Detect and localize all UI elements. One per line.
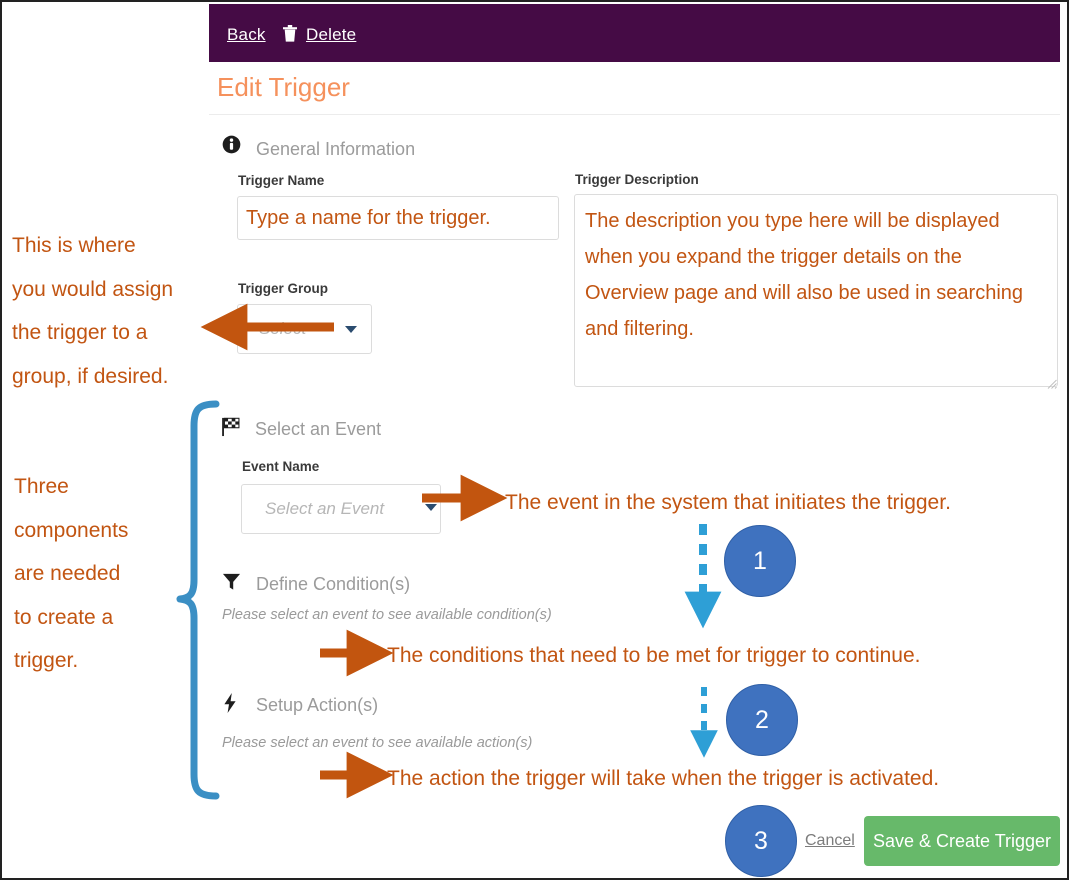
page-title: Edit Trigger	[217, 72, 350, 103]
top-navigation-bar: Back Delete	[209, 4, 1060, 62]
trash-icon[interactable]	[283, 25, 297, 42]
define-conditions-hint: Please select an event to see available …	[222, 607, 552, 623]
annotation-condition-note: The conditions that need to be met for t…	[387, 634, 921, 678]
checkered-flag-icon	[221, 416, 242, 442]
lightning-bolt-icon	[223, 693, 237, 718]
info-circle-icon	[222, 135, 241, 159]
annotation-trigger-group-note: This is where you would assign the trigg…	[12, 224, 173, 398]
trigger-description-label: Trigger Description	[575, 172, 699, 187]
cancel-button[interactable]: Cancel	[805, 832, 855, 850]
trigger-group-placeholder: Select	[259, 319, 306, 339]
trigger-name-input[interactable]	[237, 196, 559, 240]
general-information-heading: General Information	[256, 139, 415, 160]
screenshot-root: Back Delete Edit Trigger General Informa…	[0, 0, 1069, 880]
trigger-name-label: Trigger Name	[238, 173, 324, 188]
chevron-down-icon[interactable]	[425, 504, 437, 511]
chevron-down-icon[interactable]	[345, 326, 357, 333]
save-and-create-trigger-button[interactable]: Save & Create Trigger	[864, 816, 1060, 866]
step-badge-3: 3	[725, 805, 797, 877]
annotation-three-components-note: Three components are needed to create a …	[14, 465, 128, 683]
setup-actions-heading: Setup Action(s)	[256, 695, 378, 716]
select-an-event-heading: Select an Event	[255, 419, 381, 440]
annotation-event-note: The event in the system that initiates t…	[505, 481, 951, 525]
funnel-filter-icon	[222, 572, 241, 596]
define-conditions-heading: Define Condition(s)	[256, 574, 410, 595]
delete-link[interactable]: Delete	[306, 25, 356, 45]
step-badge-1: 1	[724, 525, 796, 597]
event-name-placeholder: Select an Event	[265, 499, 384, 519]
trigger-group-label: Trigger Group	[238, 281, 328, 296]
back-link[interactable]: Back	[227, 25, 266, 45]
setup-actions-hint: Please select an event to see available …	[222, 735, 532, 751]
event-name-label: Event Name	[242, 459, 319, 474]
app-panel: Back Delete Edit Trigger General Informa…	[209, 4, 1060, 880]
trigger-description-textarea[interactable]: The description you type here will be di…	[574, 194, 1058, 387]
annotation-action-note: The action the trigger will take when th…	[387, 757, 939, 801]
step-badge-2: 2	[726, 684, 798, 756]
title-divider	[209, 114, 1060, 115]
